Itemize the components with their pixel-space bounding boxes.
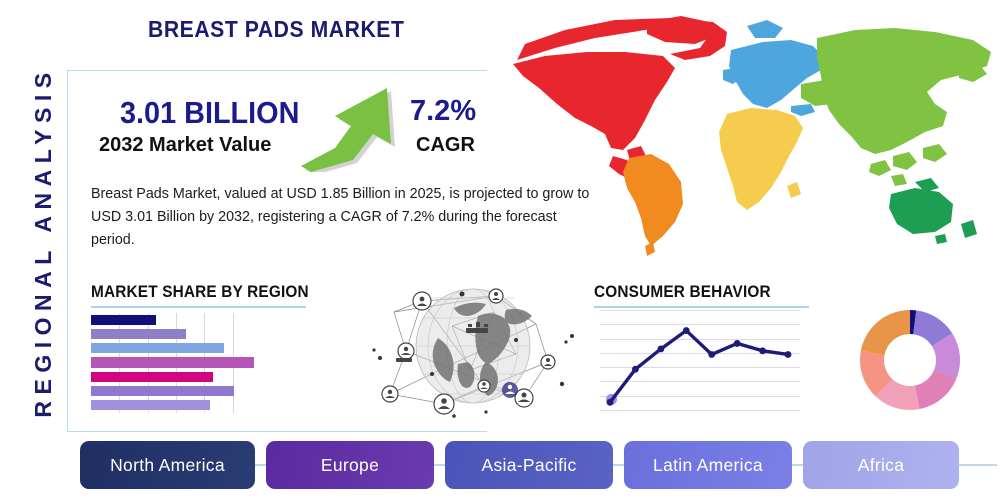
line-chart-point [657, 346, 664, 353]
section-divider [594, 306, 809, 308]
consumer-behavior-line-chart [600, 310, 800, 410]
line-gridline [600, 410, 800, 411]
bar-chart-bar [91, 372, 213, 382]
bar-chart-bar [91, 315, 156, 325]
consumer-behavior-section-header: CONSUMER BEHAVIOR [594, 283, 809, 308]
market-value: 3.01 BILLION [120, 95, 299, 131]
region-pill-africa[interactable]: Africa [803, 441, 959, 489]
bar-chart-bar [91, 386, 234, 396]
infographic-root: REGIONAL ANALYSIS BREAST PADS MARKET [0, 0, 1000, 500]
line-chart-point [607, 399, 614, 406]
market-share-section-header: MARKET SHARE BY REGION [91, 283, 306, 308]
line-chart-series [600, 310, 800, 410]
cagr-caption: CAGR [416, 134, 475, 157]
growth-arrow-icon [295, 82, 410, 172]
market-description: Breast Pads Market, valued at USD 1.85 B… [91, 183, 596, 252]
line-chart-point [759, 347, 766, 354]
region-nav-bar: North AmericaEuropeAsia-PacificLatin Ame… [80, 441, 990, 489]
vertical-section-label: REGIONAL ANALYSIS [23, 47, 63, 437]
pill-connector-end [959, 464, 997, 466]
line-chart-point [683, 327, 690, 334]
market-value-caption: 2032 Market Value [99, 134, 271, 157]
donut-segment [861, 310, 910, 355]
bar-chart-bars [91, 313, 261, 413]
global-network-globe-icon [366, 266, 581, 421]
section-divider [91, 306, 306, 308]
segment-donut-chart [855, 305, 965, 415]
pill-connector [255, 464, 266, 466]
region-pill-north-america[interactable]: North America [80, 441, 255, 489]
market-share-title: MARKET SHARE BY REGION [91, 283, 291, 302]
pill-connector [613, 464, 624, 466]
bar-chart-bar [91, 400, 210, 410]
consumer-behavior-title: CONSUMER BEHAVIOR [594, 283, 794, 302]
bar-chart-bar [91, 329, 186, 339]
page-title: BREAST PADS MARKET [148, 16, 404, 43]
line-chart-point [708, 351, 715, 358]
line-chart-point [785, 351, 792, 358]
region-pill-asia-pacific[interactable]: Asia-Pacific [445, 441, 613, 489]
kpi-row: 3.01 BILLION 2032 Market Value 7.2% CAGR [80, 78, 500, 173]
pill-connector [434, 464, 445, 466]
line-chart-point [734, 340, 741, 347]
line-chart-point [632, 366, 639, 373]
bar-chart-bar [91, 343, 224, 353]
bar-chart-bar [91, 357, 254, 367]
pill-connector [792, 464, 803, 466]
region-pill-europe[interactable]: Europe [266, 441, 434, 489]
market-share-bar-chart [91, 313, 261, 413]
cagr-value: 7.2% [410, 95, 476, 128]
region-pill-latin-america[interactable]: Latin America [624, 441, 792, 489]
